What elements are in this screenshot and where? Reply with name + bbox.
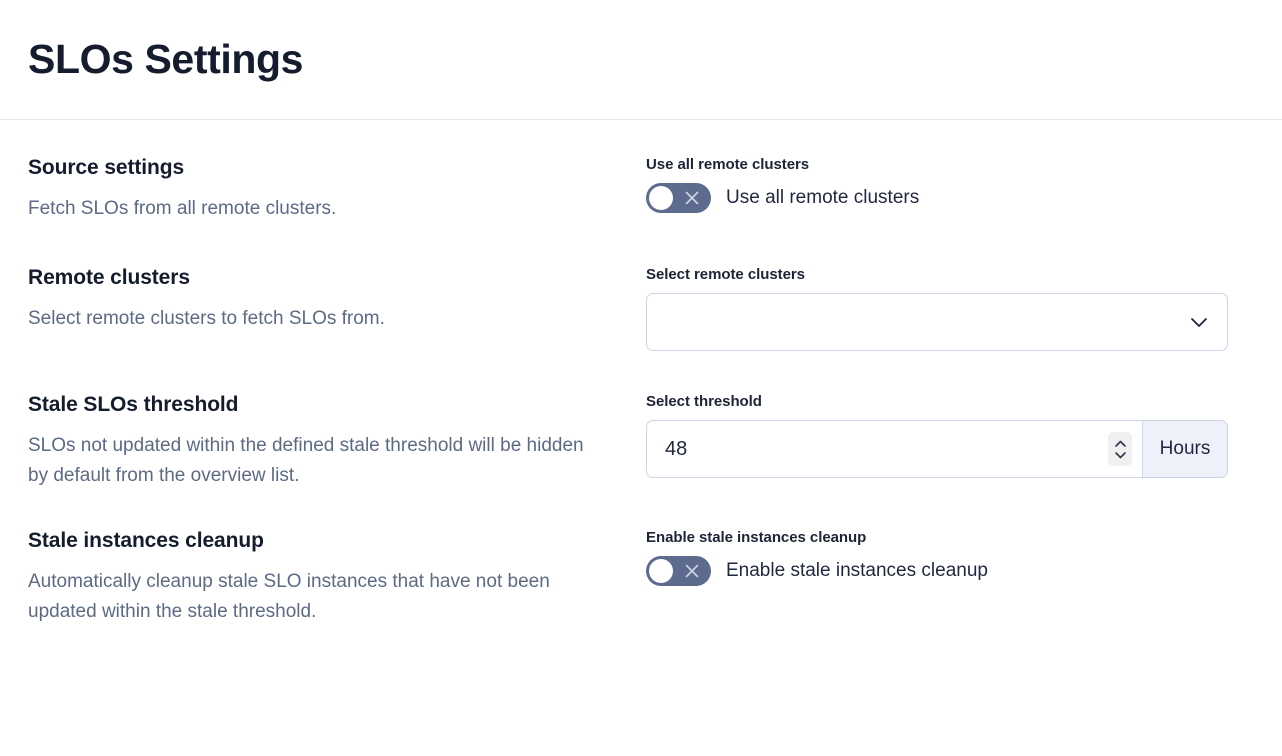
stale-slos-threshold-description-block: Stale SLOs threshold SLOs not updated wi… bbox=[28, 393, 646, 491]
stale-instances-cleanup-description: Automatically cleanup stale SLO instance… bbox=[28, 567, 608, 627]
use-all-remote-clusters-label: Use all remote clusters bbox=[646, 156, 1254, 173]
threshold-value: 48 bbox=[665, 439, 687, 459]
threshold-input-group: 48 Hours bbox=[646, 420, 1228, 478]
close-x-icon bbox=[673, 183, 711, 213]
setting-row-remote-clusters: Remote clusters Select remote clusters t… bbox=[28, 266, 1254, 351]
source-settings-control-block: Use all remote clusters Use all remote c… bbox=[646, 156, 1254, 213]
enable-stale-instances-cleanup-toggle-row: Enable stale instances cleanup bbox=[646, 556, 1254, 586]
stale-slos-threshold-description: SLOs not updated within the defined stal… bbox=[28, 431, 608, 491]
stale-instances-cleanup-control-block: Enable stale instances cleanup Enable st… bbox=[646, 529, 1254, 586]
toggle-knob bbox=[649, 186, 673, 210]
threshold-unit-addon: Hours bbox=[1142, 420, 1228, 478]
settings-body: Source settings Fetch SLOs from all remo… bbox=[0, 120, 1282, 627]
use-all-remote-clusters-toggle[interactable] bbox=[646, 183, 711, 213]
select-remote-clusters-label: Select remote clusters bbox=[646, 266, 1254, 283]
source-settings-description: Fetch SLOs from all remote clusters. bbox=[28, 194, 608, 224]
select-remote-clusters-dropdown[interactable] bbox=[646, 293, 1228, 351]
close-x-icon bbox=[673, 556, 711, 586]
enable-stale-instances-cleanup-toggle[interactable] bbox=[646, 556, 711, 586]
source-settings-title: Source settings bbox=[28, 156, 622, 180]
remote-clusters-description: Select remote clusters to fetch SLOs fro… bbox=[28, 304, 608, 334]
stale-instances-cleanup-title: Stale instances cleanup bbox=[28, 529, 622, 553]
stale-slos-threshold-title: Stale SLOs threshold bbox=[28, 393, 622, 417]
source-settings-description-block: Source settings Fetch SLOs from all remo… bbox=[28, 156, 646, 224]
page-header: SLOs Settings bbox=[0, 0, 1282, 120]
toggle-knob bbox=[649, 559, 673, 583]
setting-row-stale-instances-cleanup: Stale instances cleanup Automatically cl… bbox=[28, 529, 1254, 627]
remote-clusters-description-block: Remote clusters Select remote clusters t… bbox=[28, 266, 646, 334]
remote-clusters-title: Remote clusters bbox=[28, 266, 622, 290]
stale-instances-cleanup-description-block: Stale instances cleanup Automatically cl… bbox=[28, 529, 646, 627]
page-title: SLOs Settings bbox=[28, 37, 303, 82]
remote-clusters-control-block: Select remote clusters bbox=[646, 266, 1254, 351]
enable-stale-instances-cleanup-toggle-text: Enable stale instances cleanup bbox=[726, 560, 988, 582]
use-all-remote-clusters-toggle-text: Use all remote clusters bbox=[726, 187, 919, 209]
stepper-up-down-icon[interactable] bbox=[1108, 432, 1132, 466]
select-threshold-label: Select threshold bbox=[646, 393, 1254, 410]
threshold-number-input[interactable]: 48 bbox=[646, 420, 1142, 478]
enable-stale-instances-cleanup-label: Enable stale instances cleanup bbox=[646, 529, 1254, 546]
setting-row-source-settings: Source settings Fetch SLOs from all remo… bbox=[28, 156, 1254, 224]
stale-slos-threshold-control-block: Select threshold 48 Hours bbox=[646, 393, 1254, 478]
setting-row-stale-slos-threshold: Stale SLOs threshold SLOs not updated wi… bbox=[28, 393, 1254, 491]
chevron-down-icon[interactable] bbox=[1187, 310, 1211, 334]
use-all-remote-clusters-toggle-row: Use all remote clusters bbox=[646, 183, 1254, 213]
